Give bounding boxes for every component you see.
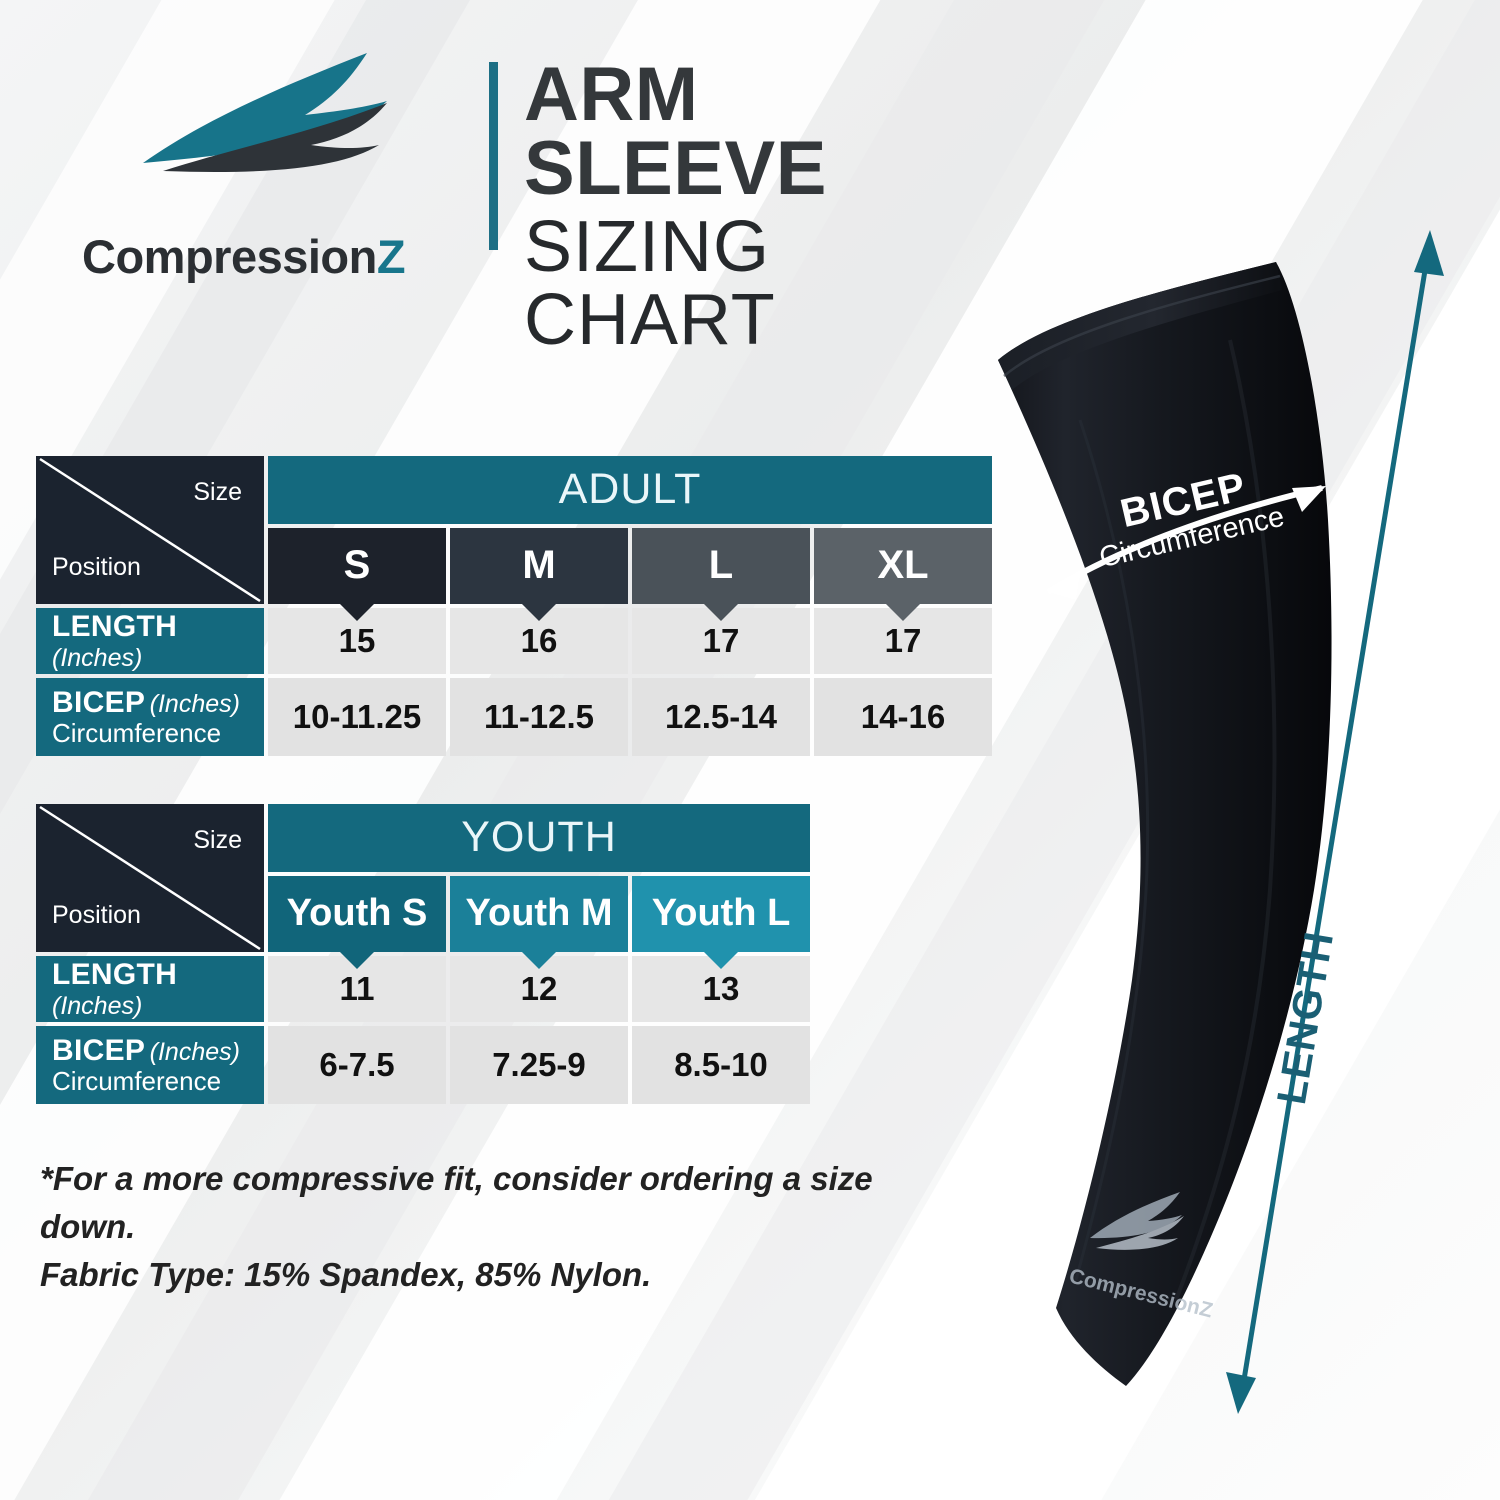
table-row: LENGTH (Inches) 15 16 17 17 [36,608,992,674]
column-notch-icon [704,952,738,969]
size-header-cell[interactable]: L [632,528,810,604]
corner-cell: Size Position [36,456,264,604]
footnote-line-1: *For a more compressive fit, consider or… [40,1155,960,1251]
size-header-label: L [709,543,733,587]
title-divider [489,62,498,250]
row-label-length: LENGTH (Inches) [36,956,264,1022]
size-header-cell[interactable]: Youth M [450,876,628,952]
size-header-label: Youth S [287,892,428,934]
footnote-line-2: Fabric Type: 15% Spandex, 85% Nylon. [40,1251,960,1299]
header: CompressionZ ARM SLEEVE SIZING CHART [0,0,1020,290]
brand-logo: CompressionZ [40,45,470,270]
table-cell: 7.25-9 [450,1026,628,1104]
row-label-unit: (Inches) [52,992,142,1020]
group-header-adult: ADULT [268,456,992,524]
column-notch-icon [886,604,920,621]
row-label-sub: Circumference [52,718,264,749]
column-notch-icon [704,604,738,621]
size-header-cell[interactable]: Youth S [268,876,446,952]
size-header-label: Youth M [465,892,612,934]
row-label-bicep: BICEP (Inches) Circumference [36,678,264,756]
row-label-unit: (Inches) [52,644,142,672]
size-header-label: S [344,543,371,587]
column-notch-icon [340,604,374,621]
column-notch-icon [522,604,556,621]
corner-position-label: Position [52,553,141,582]
corner-size-label: Size [193,478,242,507]
column-notch-icon [522,952,556,969]
row-label-unit: (Inches) [150,1038,240,1066]
row-label-length: LENGTH (Inches) [36,608,264,674]
table-row: BICEP (Inches) Circumference 6-7.5 7.25-… [36,1026,810,1104]
length-measure-arrow [1180,200,1480,1460]
row-label-sub: Circumference [52,1066,264,1097]
table-cell: 12.5-14 [632,678,810,756]
arrowhead-top [1414,230,1444,276]
table-cell: 10-11.25 [268,678,446,756]
size-header-label: M [522,543,555,587]
table-cell: 11-12.5 [450,678,628,756]
table-header-row: Size Position YOUTH [36,804,810,872]
corner-position-label: Position [52,901,141,930]
row-label-main: BICEP [52,686,145,719]
size-header-cell[interactable]: Youth L [632,876,810,952]
row-label-main: BICEP [52,1034,145,1067]
footnote: *For a more compressive fit, consider or… [40,1155,960,1299]
youth-sizing-table: Size Position YOUTH Youth S Youth M Yout… [32,800,814,1108]
brand-name-main: Compression [82,230,377,283]
table-row: LENGTH (Inches) 11 12 13 [36,956,810,1022]
table-cell: 6-7.5 [268,1026,446,1104]
table-row: BICEP (Inches) Circumference 10-11.25 11… [36,678,992,756]
table-header-row: Size Position ADULT [36,456,992,524]
brand-wordmark: CompressionZ [82,233,502,280]
size-header-cell[interactable]: S [268,528,446,604]
title-line-1: ARM SLEEVE [524,58,1020,207]
group-header-youth: YOUTH [268,804,810,872]
arrowhead-bottom [1226,1372,1256,1414]
row-label-unit: (Inches) [150,690,240,718]
adult-sizing-table: Size Position ADULT S M L XL LENGTH (Inc… [32,452,996,760]
row-label-bicep: BICEP (Inches) Circumference [36,1026,264,1104]
corner-cell: Size Position [36,804,264,952]
row-label-main: LENGTH [52,958,177,991]
swoosh-icon [135,45,415,175]
size-header-label: XL [877,543,928,587]
row-label-main: LENGTH [52,610,177,643]
brand-name-accent: Z [377,230,405,283]
column-notch-icon [340,952,374,969]
corner-size-label: Size [193,826,242,855]
size-header-label: Youth L [652,892,791,934]
size-header-cell[interactable]: M [450,528,628,604]
table-cell: 8.5-10 [632,1026,810,1104]
